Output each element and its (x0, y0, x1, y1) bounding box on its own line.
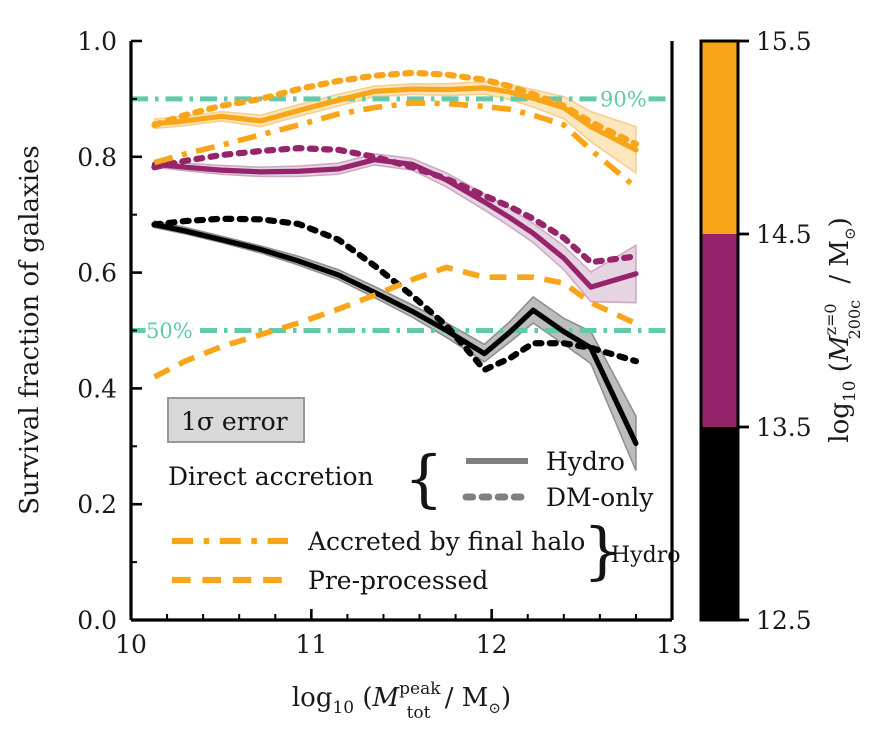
cbar-title-sup: z=0 (821, 303, 840, 335)
legend-label-dm-only: DM-only (546, 483, 654, 512)
colorbar-segment-2 (701, 41, 738, 234)
cbar-title-log: log (825, 402, 855, 443)
legend-brace-open: { (404, 442, 443, 515)
x-title-slash: / (436, 683, 461, 713)
cbar-title-Msun: M (825, 240, 855, 267)
legend-group-direct-label: Direct accretion (168, 462, 374, 491)
figure-root: 101112130.00.20.40.60.81.0 90%50% 1σ err… (0, 0, 872, 741)
cbar-title-odot: ⊙ (841, 227, 859, 240)
legend-label-hydro: Hydro (546, 447, 625, 476)
x-title-M: M (372, 683, 401, 713)
y-tick-label: 0.8 (77, 143, 117, 172)
cbar-title-paren-open: ( (825, 362, 855, 380)
colorbar-tick-label: 13.5 (756, 413, 812, 442)
x-tick-label: 11 (295, 630, 327, 659)
x-title-paren-close: ) (501, 683, 511, 713)
cbar-title-sub: 200c (845, 300, 864, 340)
legend-group-hydro-label: Hydro (611, 543, 680, 568)
legend-label-pre-processed: Pre-processed (308, 566, 488, 595)
x-title-sub: tot (407, 703, 431, 723)
legend-label-accreted-by-final-halo: Accreted by final halo (307, 527, 585, 556)
error-badge-label: 1σ error (181, 407, 288, 436)
colorbar-segment-0 (701, 427, 738, 620)
y-tick-label: 1.0 (77, 27, 117, 56)
colorbar-segment-1 (701, 234, 738, 427)
y-tick-label: 0.2 (77, 490, 117, 519)
x-title-log-sub: 10 (332, 698, 354, 718)
y-tick-label: 0.0 (77, 606, 117, 635)
x-tick-label: 13 (656, 630, 688, 659)
colorbar-tick-label: 15.5 (756, 27, 812, 56)
x-title-odot: ⊙ (488, 699, 501, 717)
reference-label-50pct: 50% (146, 319, 193, 343)
y-tick-label: 0.6 (77, 259, 117, 288)
y-tick-label: 0.4 (77, 374, 117, 403)
colorbar-tick-label: 12.5 (756, 606, 812, 635)
reference-label-90pct: 90% (600, 87, 647, 111)
x-tick-label: 10 (115, 630, 147, 659)
survival-fraction-figure: 101112130.00.20.40.60.81.0 90%50% 1σ err… (0, 0, 872, 741)
colorbar-tick-label: 14.5 (756, 220, 812, 249)
x-tick-label: 12 (476, 630, 508, 659)
cbar-title-log-sub: 10 (840, 380, 860, 402)
x-title-Msun: M (462, 683, 489, 713)
cbar-title-slash: / (825, 267, 855, 292)
cbar-title-paren-close: ) (825, 217, 855, 227)
x-title-log: log (292, 683, 333, 713)
x-title-paren-open: ( (354, 683, 372, 713)
y-axis-title: Survival fraction of galaxies (15, 145, 45, 515)
x-title-sup: peak (399, 679, 441, 699)
